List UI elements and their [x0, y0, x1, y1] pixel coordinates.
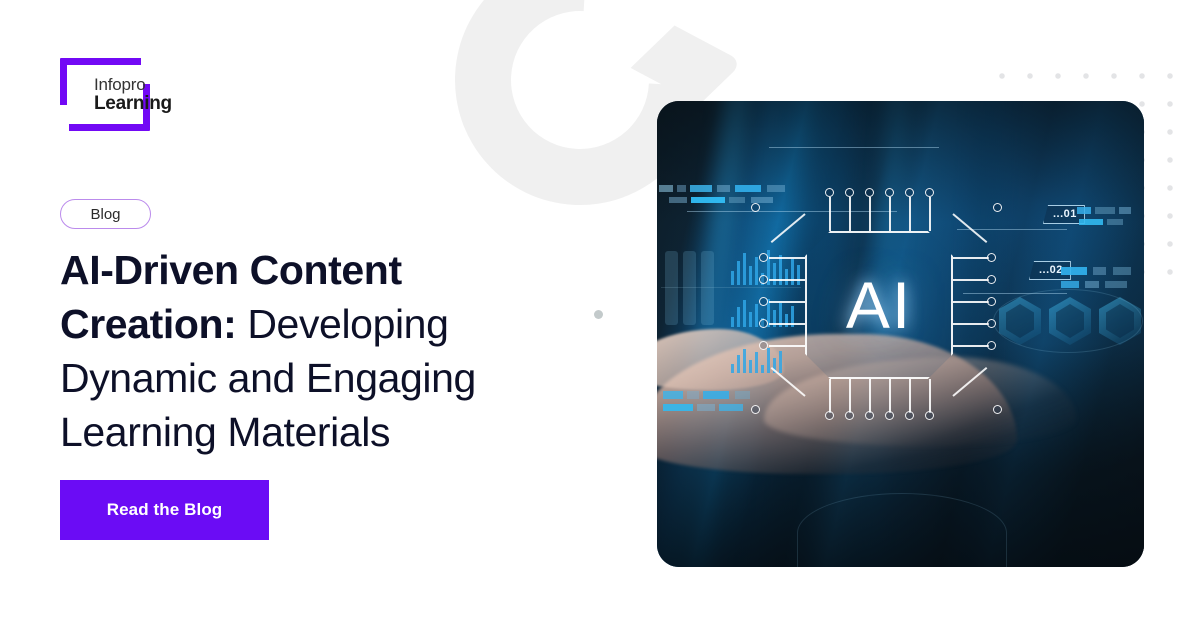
category-badge[interactable]: Blog [60, 199, 151, 229]
hud-block [697, 404, 715, 411]
hud-block [691, 197, 725, 203]
hud-block [663, 391, 683, 399]
logo-line-1: Infopro [94, 76, 214, 94]
hud-block [1093, 267, 1106, 275]
hud-trace [661, 287, 801, 288]
hud-block [659, 185, 673, 192]
category-badge-label: Blog [90, 206, 120, 223]
hud-label-01-text: ...01 [1053, 208, 1077, 220]
hud-block [669, 197, 687, 203]
hud-block [767, 185, 785, 192]
read-the-blog-button[interactable]: Read the Blog [60, 480, 269, 540]
hud-block [729, 197, 745, 203]
hud-block [1095, 207, 1115, 214]
hud-block [690, 185, 712, 192]
hud-slider [701, 251, 714, 325]
swoosh-tail-shape [631, 26, 744, 105]
hud-label-02-text: ...02 [1039, 264, 1063, 276]
hud-block [1107, 219, 1123, 225]
logo-wordmark: Infopro Learning [94, 76, 214, 114]
hud-block [717, 185, 730, 192]
hud-block [703, 391, 729, 399]
hud-block [1079, 219, 1103, 225]
page-title: AI-Driven Content Creation: Developing D… [60, 243, 570, 459]
hud-block [677, 185, 686, 192]
read-the-blog-label: Read the Blog [107, 500, 223, 520]
hud-block [735, 185, 761, 192]
hud-block [663, 404, 693, 411]
hud-block [687, 391, 699, 399]
logo-line-2: Learning [94, 94, 214, 114]
hud-slider [665, 251, 678, 325]
hud-block [1061, 267, 1087, 275]
hud-block [1061, 281, 1079, 288]
hud-block [1085, 281, 1099, 288]
hud-block [1077, 207, 1091, 214]
chip-corner-node [993, 405, 1002, 414]
hud-block [1119, 207, 1131, 214]
hud-block [735, 391, 750, 399]
content-column: Infopro Learning Blog AI-Driven Content … [60, 0, 600, 630]
hud-trace [687, 211, 897, 212]
chip-corner-node [751, 203, 760, 212]
hud-ring [993, 289, 1143, 353]
ai-chip-label: AI [805, 231, 953, 379]
hud-trace [769, 147, 939, 148]
hud-slider [683, 251, 696, 325]
hud-ring [797, 493, 1007, 567]
hud-block [719, 404, 743, 411]
chip-corner-node [751, 405, 760, 414]
chip-corner-node [993, 203, 1002, 212]
hud-block [1105, 281, 1127, 288]
ai-chip-graphic: AI [805, 231, 953, 379]
infopro-learning-logo[interactable]: Infopro Learning [60, 58, 150, 131]
hud-block [1113, 267, 1131, 275]
hero-image-card[interactable]: ...01 ...02 AI [657, 101, 1144, 567]
